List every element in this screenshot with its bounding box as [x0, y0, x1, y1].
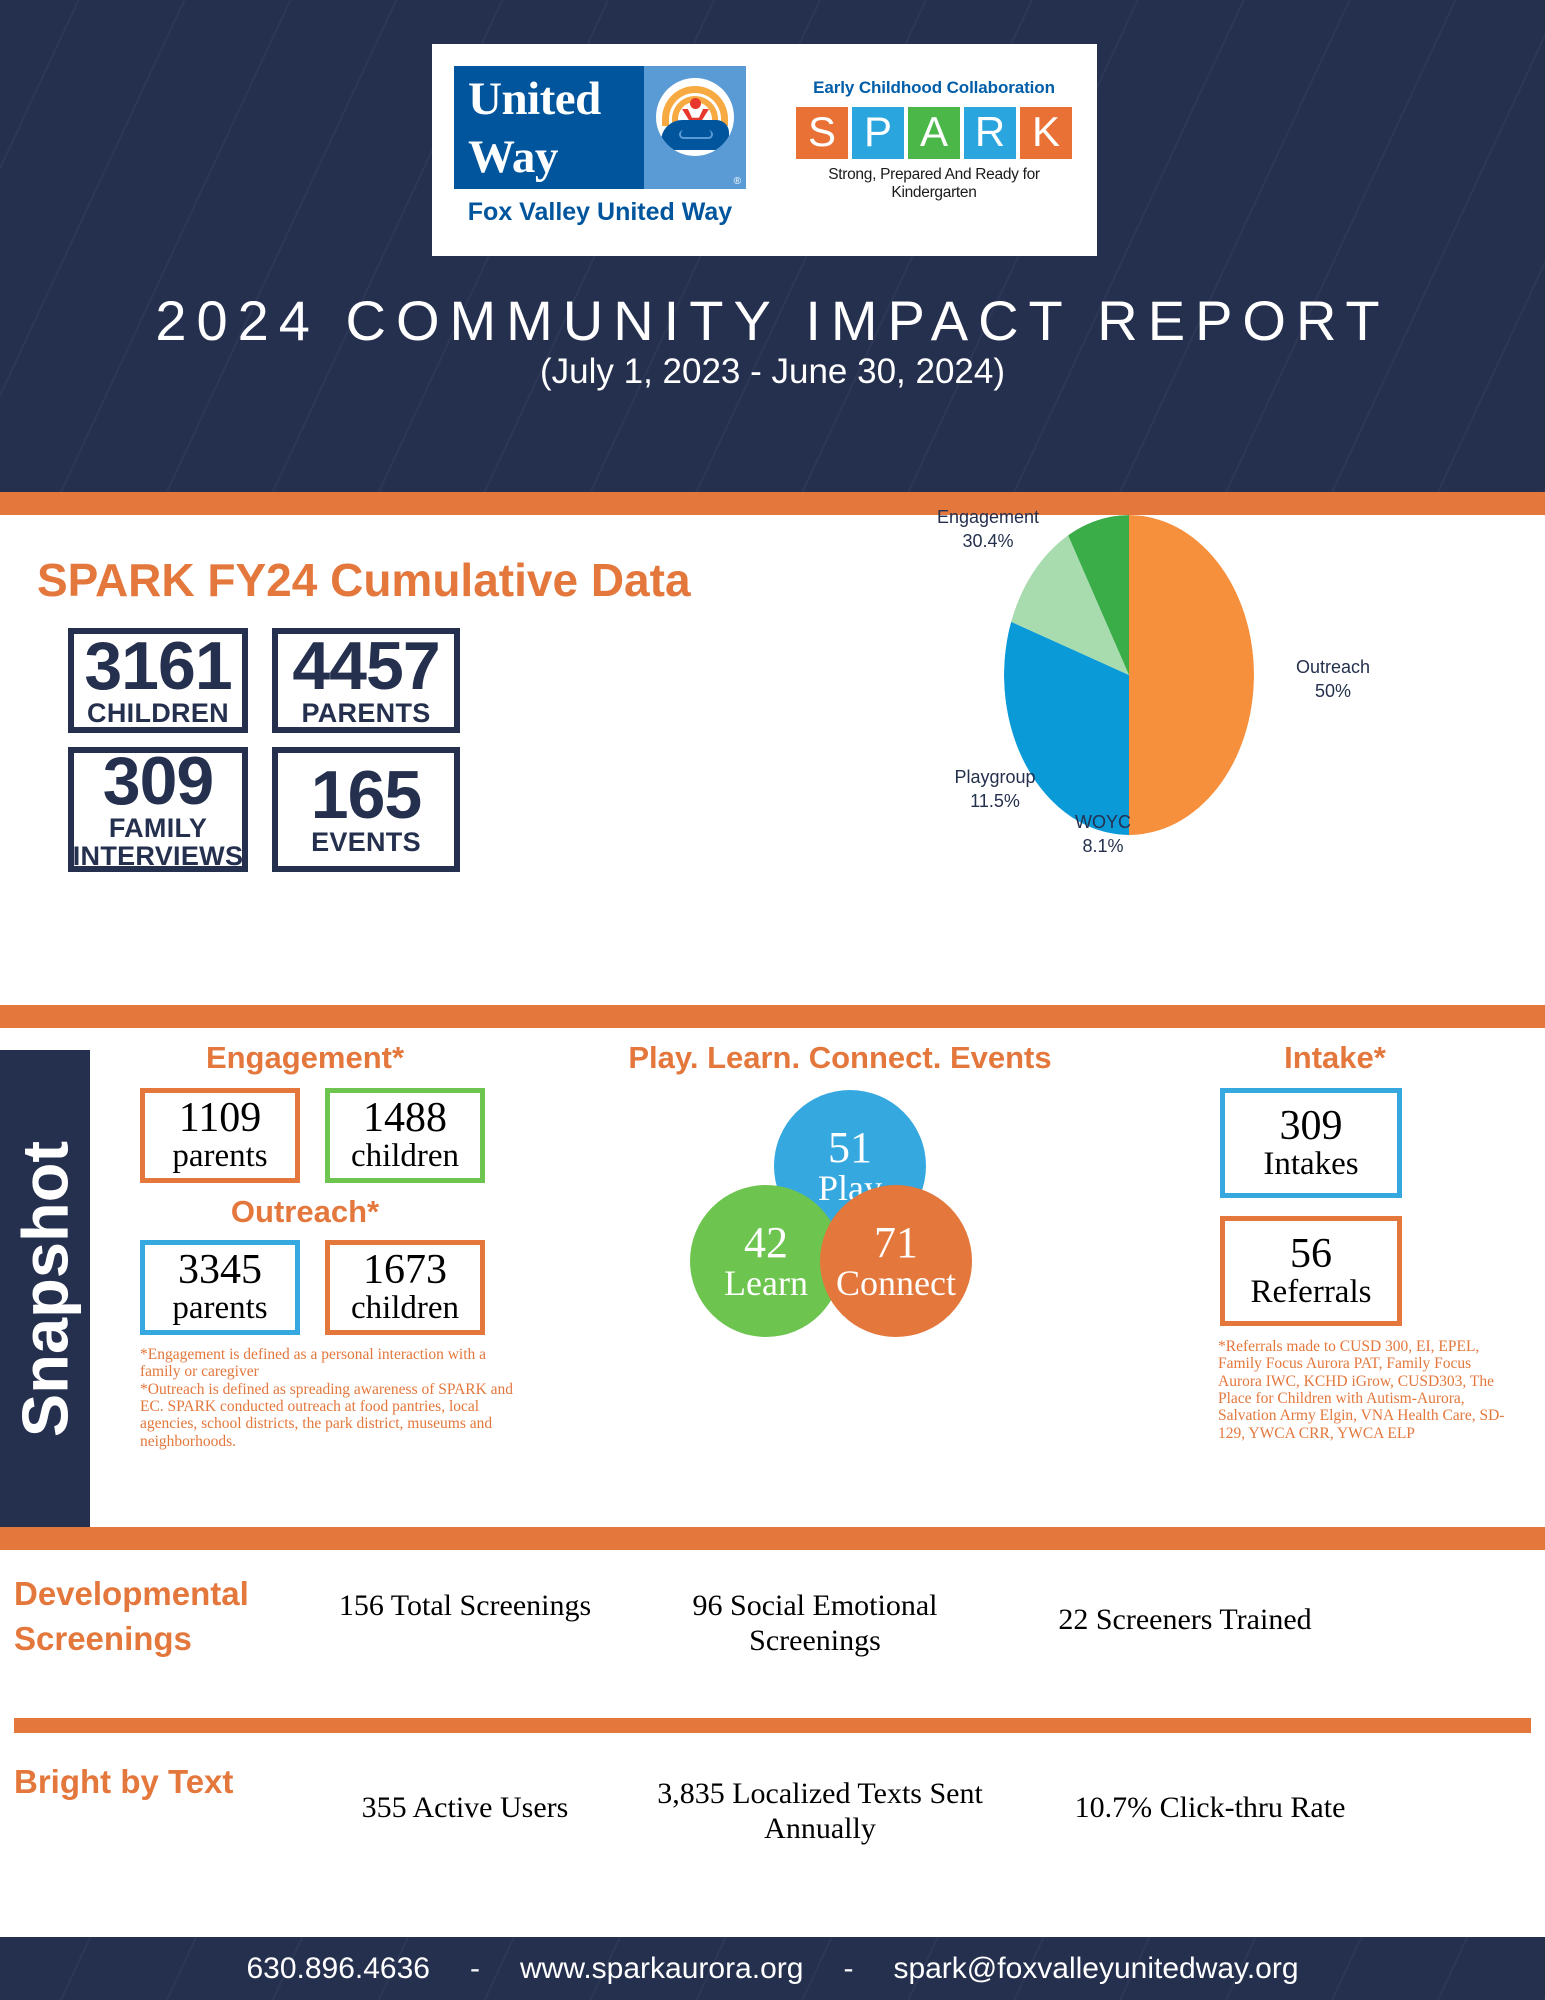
divider-bar-snapshot-top [0, 1005, 1545, 1028]
footnote-referrals: *Referrals made to CUSD 300, EI, EPEL, F… [1218, 1338, 1518, 1442]
divider-bar-snapshot-bottom [0, 1527, 1545, 1550]
registered-trademark-icon: ® [734, 176, 741, 187]
metric-number: 56 [1290, 1233, 1332, 1275]
dev-screening-item-social-emotional: 96 Social Emotional Screenings [650, 1588, 980, 1659]
footnote-engagement-outreach: *Engagement is defined as a personal int… [140, 1346, 530, 1450]
spark-letter-a: A [908, 107, 960, 159]
cumulative-data-section: SPARK FY24 Cumulative Data 3161 CHILDREN… [0, 515, 1545, 1005]
stat-card-events: 165 EVENTS [272, 747, 460, 872]
pie-label-value: 11.5% [940, 789, 1050, 813]
spark-letter-r: R [964, 107, 1016, 159]
snapshot-section: Snapshot Engagement* 1109 parents 1488 c… [0, 1028, 1545, 1527]
pie-label-outreach: Outreach 50% [1278, 655, 1388, 704]
bbt-item-click-thru-rate: 10.7% Click-thru Rate [1020, 1790, 1400, 1825]
pie-label-value: 8.1% [1058, 834, 1148, 858]
spark-subtitle-bottom: Strong, Prepared And Ready for Kindergar… [784, 166, 1084, 202]
spark-letter-k: K [1020, 107, 1072, 159]
united-way-hand-rainbow-icon [656, 78, 734, 156]
play-learn-connect-venn: 51 Play 42 Learn 71 Connect [690, 1090, 1000, 1335]
stat-number: 3161 [84, 634, 231, 699]
stat-card-children: 3161 CHILDREN [68, 628, 248, 733]
heading-play-learn-connect: Play. Learn. Connect. Events [560, 1040, 1120, 1076]
metric-intakes: 309 Intakes [1220, 1088, 1402, 1198]
stat-card-family-interviews: 309 FAMILY INTERVIEWS [68, 747, 248, 872]
divider-bar-bottom [14, 1718, 1531, 1733]
pie-label-name: WOYC [1058, 810, 1148, 834]
venn-circle-connect: 71 Connect [820, 1185, 972, 1337]
snapshot-sidebar-label: Snapshot [8, 1140, 83, 1436]
metric-label: children [351, 1139, 459, 1174]
developmental-screenings-row: Developmental Screenings 156 Total Scree… [0, 1572, 1545, 1702]
united-way-logo: United Way ® Fox Valley United Way [454, 66, 746, 234]
stat-label: FAMILY INTERVIEWS [73, 814, 244, 871]
metric-label: parents [172, 1139, 267, 1174]
footer-email-link[interactable]: spark@foxvalleyunitedway.org [893, 1952, 1298, 1986]
stat-number: 309 [103, 749, 213, 814]
metric-label: children [351, 1291, 459, 1326]
footer-phone[interactable]: 630.896.4636 [246, 1952, 430, 1986]
section-title-cumulative: SPARK FY24 Cumulative Data [37, 553, 691, 607]
united-way-line2: Way [468, 128, 644, 186]
metric-outreach-children: 1673 children [325, 1240, 485, 1335]
divider-bar-top [0, 492, 1545, 515]
metric-outreach-parents: 3345 parents [140, 1240, 300, 1335]
pie-label-name: Engagement [928, 505, 1048, 529]
metric-number: 309 [1280, 1105, 1343, 1147]
page-title: 2024 COMMUNITY IMPACT REPORT [0, 288, 1545, 353]
pie-label-name: Outreach [1278, 655, 1388, 679]
united-way-line1: United [468, 70, 644, 128]
metric-engagement-children: 1488 children [325, 1088, 485, 1183]
venn-label: Connect [836, 1265, 956, 1301]
metric-number: 1109 [179, 1097, 261, 1139]
snapshot-sidebar: Snapshot [0, 1050, 90, 1527]
pie-label-playgroup: Playgroup 11.5% [940, 765, 1050, 814]
pie-label-name: Playgroup [940, 765, 1050, 789]
hand-crease [679, 130, 713, 139]
footer-separator-1: - [470, 1952, 480, 1986]
heading-outreach: Outreach* [140, 1194, 470, 1230]
dev-screening-item-screeners-trained: 22 Screeners Trained [1000, 1602, 1370, 1637]
report-header: United Way ® Fox Valley United Way Early… [0, 0, 1545, 492]
venn-number: 42 [744, 1221, 788, 1264]
stat-card-parents: 4457 PARENTS [272, 628, 460, 733]
venn-number: 71 [874, 1221, 918, 1264]
pie-label-engagement: Engagement 30.4% [928, 505, 1048, 554]
metric-label: parents [172, 1291, 267, 1326]
report-date-range: (July 1, 2023 - June 30, 2024) [0, 352, 1545, 392]
heading-intake: Intake* [1185, 1040, 1485, 1076]
footer-separator-2: - [843, 1952, 853, 1986]
pie-label-woyc: WOYC 8.1% [1058, 810, 1148, 859]
bright-by-text-row: Bright by Text 355 Active Users 3,835 Lo… [0, 1760, 1545, 1890]
contact-footer: 630.896.4636 - www.sparkaurora.org - spa… [0, 1937, 1545, 2000]
metric-label: Intakes [1263, 1147, 1358, 1182]
stat-label: EVENTS [311, 828, 421, 856]
spark-letter-s: S [796, 107, 848, 159]
metric-number: 1673 [363, 1249, 447, 1291]
metric-engagement-parents: 1109 parents [140, 1088, 300, 1183]
dev-screening-item-total: 156 Total Screenings [300, 1588, 630, 1623]
row-label-bright-by-text: Bright by Text [14, 1760, 324, 1805]
stat-label: CHILDREN [87, 699, 229, 727]
metric-number: 3345 [178, 1249, 262, 1291]
spark-logo: Early Childhood Collaboration SPARK Stro… [784, 78, 1084, 228]
spark-letter-tiles: SPARK [784, 107, 1084, 159]
footer-website-link[interactable]: www.sparkaurora.org [520, 1952, 803, 1986]
united-way-wordmark: United Way [454, 66, 644, 189]
metric-number: 1488 [363, 1097, 447, 1139]
pie-slice-outreach [1129, 515, 1254, 835]
heading-engagement: Engagement* [140, 1040, 470, 1076]
stat-label: PARENTS [301, 699, 430, 727]
person-head-icon [690, 98, 701, 109]
spark-letter-p: P [852, 107, 904, 159]
row-label-developmental-screenings: Developmental Screenings [14, 1572, 324, 1661]
united-way-symbol-panel: ® [644, 66, 746, 189]
logo-band: United Way ® Fox Valley United Way Early… [432, 44, 1097, 256]
spark-subtitle-top: Early Childhood Collaboration [784, 78, 1084, 98]
venn-number: 51 [828, 1126, 872, 1169]
united-way-tagline: Fox Valley United Way [454, 198, 746, 227]
stat-number: 165 [311, 763, 421, 828]
pie-label-value: 50% [1278, 679, 1388, 703]
stat-number: 4457 [292, 634, 439, 699]
metric-label: Referrals [1251, 1275, 1372, 1310]
bbt-item-active-users: 355 Active Users [300, 1790, 630, 1825]
hand-icon [661, 120, 729, 150]
metric-referrals: 56 Referrals [1220, 1216, 1402, 1326]
pie-label-value: 30.4% [928, 529, 1048, 553]
venn-label: Learn [724, 1265, 808, 1301]
bbt-item-localized-texts: 3,835 Localized Texts Sent Annually [650, 1776, 990, 1847]
